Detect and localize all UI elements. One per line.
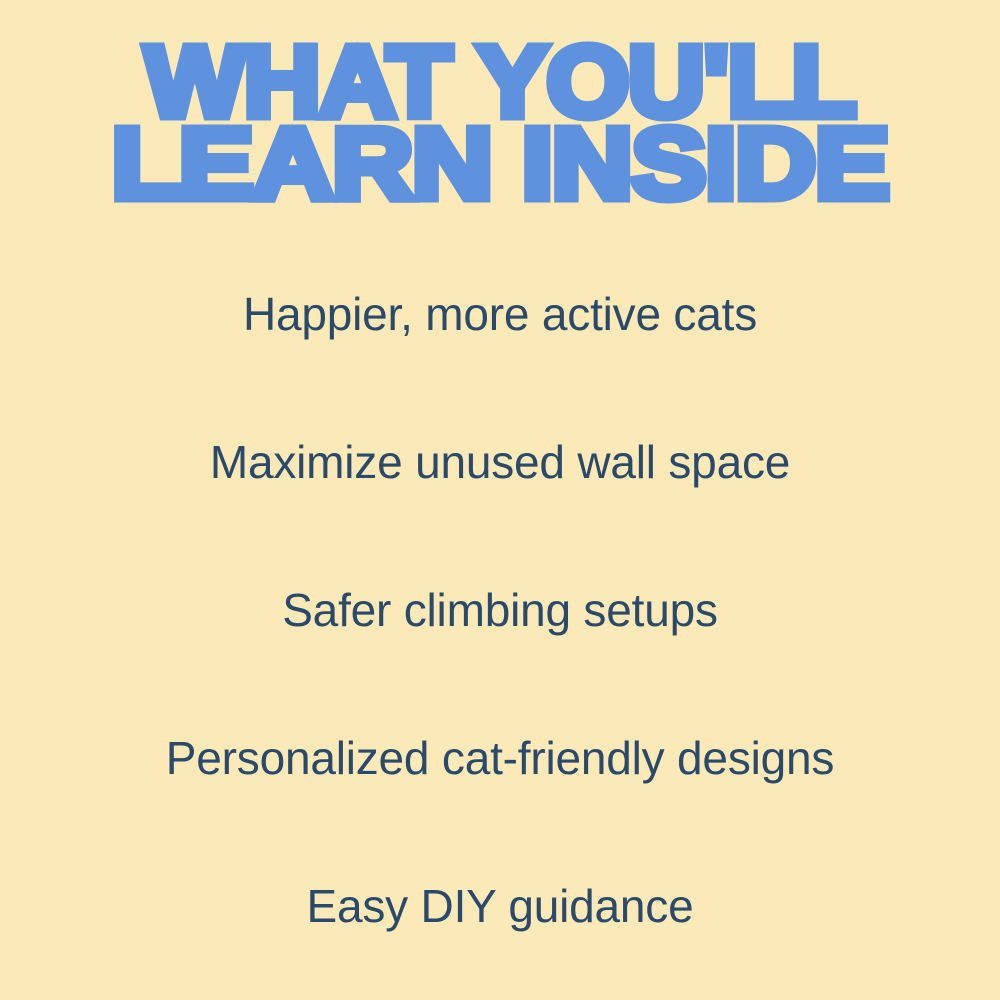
- benefits-list: Happier, more active cats Maximize unuse…: [0, 240, 1000, 980]
- list-item: Easy DIY guidance: [0, 832, 1000, 980]
- promo-slide: WHAT YOU'LL LEARN INSIDE Happier, more a…: [0, 0, 1000, 1000]
- list-item: Safer climbing setups: [0, 536, 1000, 684]
- benefit-label: Safer climbing setups: [282, 585, 718, 636]
- benefit-label: Easy DIY guidance: [307, 881, 694, 932]
- list-item: Personalized cat-friendly designs: [0, 684, 1000, 832]
- benefit-label: Happier, more active cats: [243, 289, 757, 340]
- benefit-label: Maximize unused wall space: [210, 437, 790, 488]
- list-item: Happier, more active cats: [0, 240, 1000, 388]
- page-title: WHAT YOU'LL LEARN INSIDE: [0, 42, 1000, 204]
- benefit-label: Personalized cat-friendly designs: [166, 733, 834, 784]
- list-item: Maximize unused wall space: [0, 388, 1000, 536]
- page-title-line-2: LEARN INSIDE: [0, 124, 1000, 204]
